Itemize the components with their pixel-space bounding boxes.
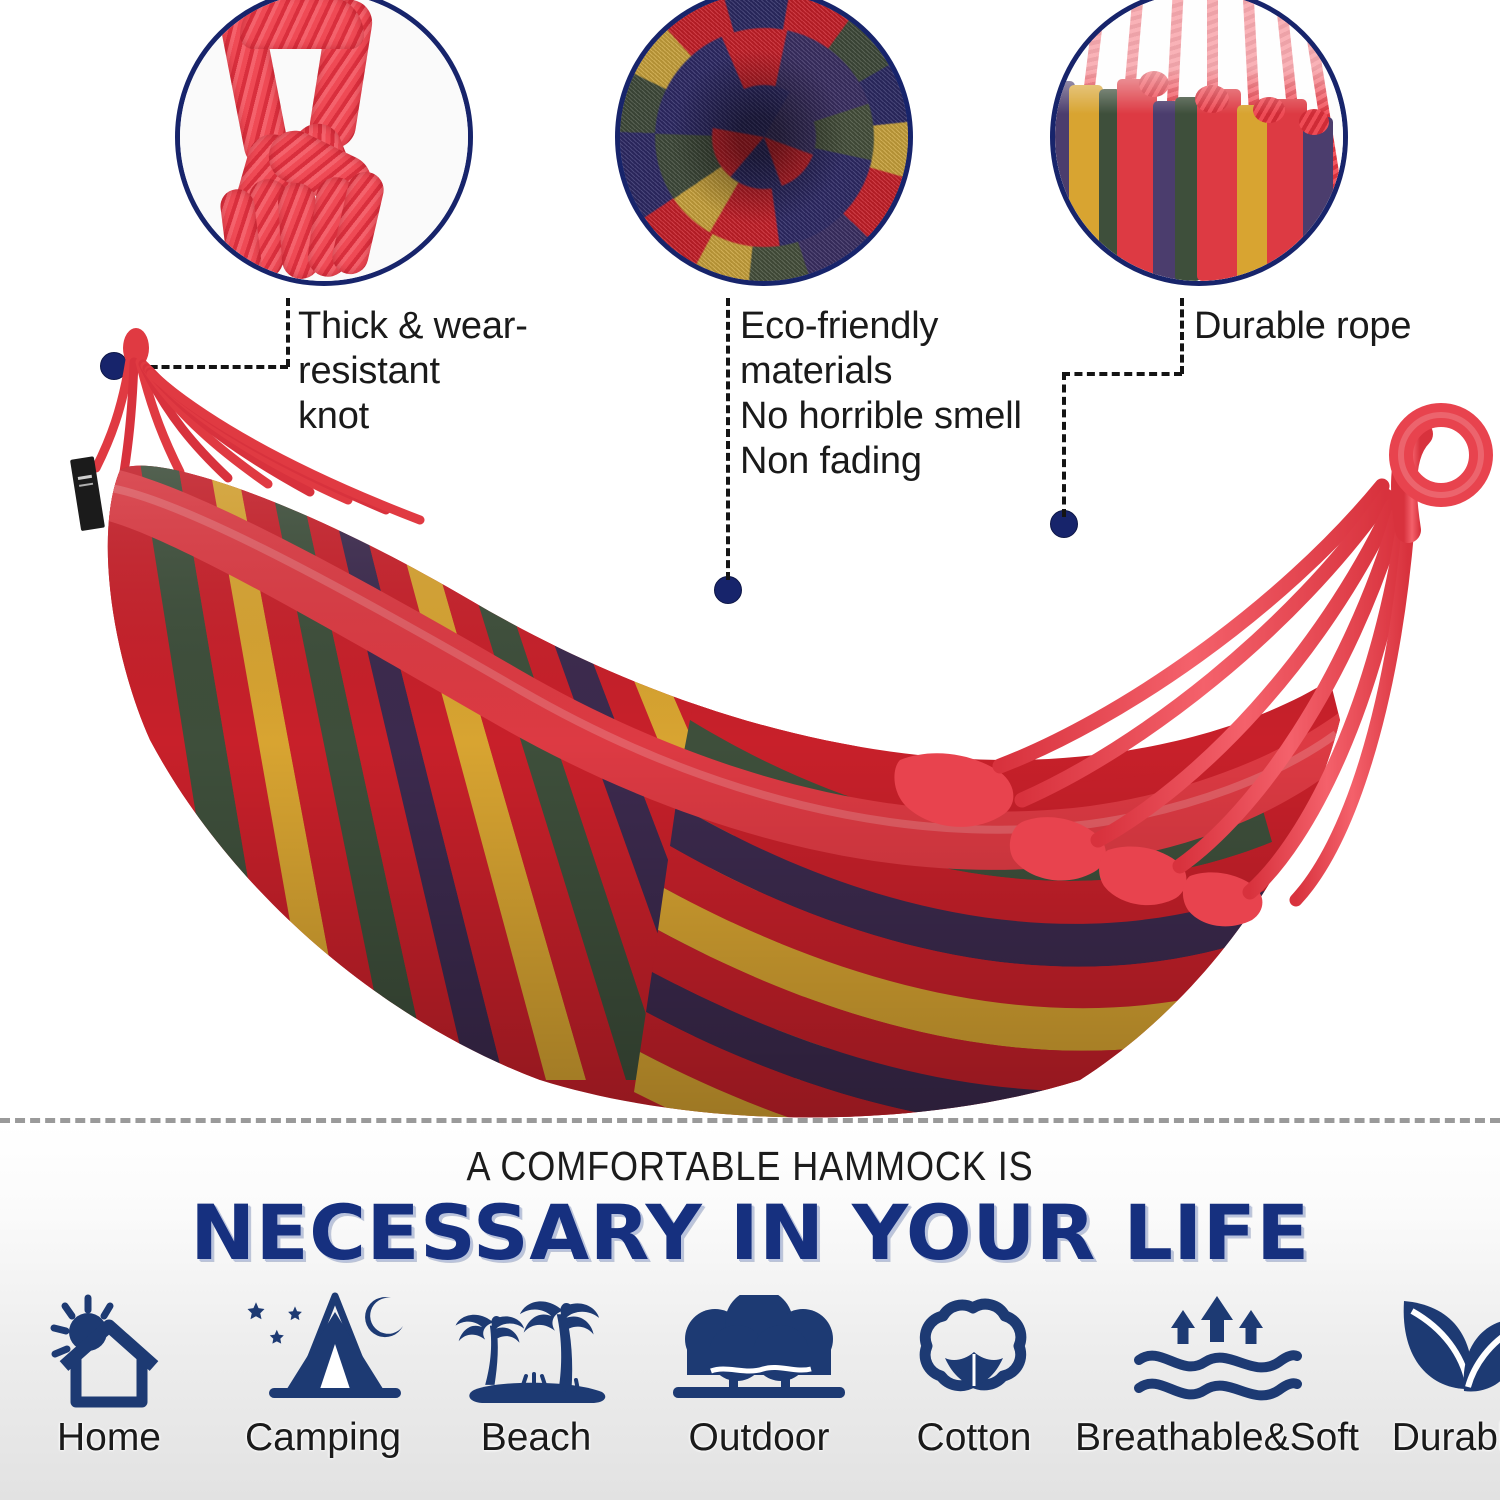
breathable-waves-arrows-icon bbox=[1129, 1290, 1305, 1410]
feature-label-cotton: Cotton bbox=[917, 1416, 1032, 1460]
leaves-icon bbox=[1390, 1290, 1500, 1410]
palm-island-icon bbox=[448, 1290, 624, 1410]
cotton-boll-icon bbox=[907, 1290, 1041, 1410]
feature-label-camping: Camping bbox=[245, 1416, 401, 1460]
product-infographic: Thick & wear-resistant knot Eco-friendly… bbox=[0, 0, 1500, 1500]
feature-item-durable: Durable bbox=[1360, 1290, 1500, 1460]
feature-icon-row: Home Camping bbox=[0, 1290, 1500, 1495]
feature-label-home: Home bbox=[57, 1416, 161, 1460]
product-image-hammock bbox=[0, 200, 1500, 1120]
feature-label-beach: Beach bbox=[481, 1416, 592, 1460]
trees-icon bbox=[671, 1290, 847, 1410]
feature-label-durable: Durable bbox=[1392, 1416, 1500, 1460]
feature-item-beach: Beach bbox=[428, 1290, 644, 1460]
feature-label-outdoor: Outdoor bbox=[689, 1416, 830, 1460]
home-sun-icon bbox=[46, 1290, 172, 1410]
banner-headline-big: NECESSARY IN YOUR LIFE bbox=[0, 1188, 1500, 1277]
feature-label-breathable: Breathable&Soft bbox=[1075, 1416, 1359, 1460]
feature-item-breathable: Breathable&Soft bbox=[1074, 1290, 1360, 1460]
feature-item-home: Home bbox=[0, 1290, 218, 1460]
feature-item-outdoor: Outdoor bbox=[644, 1290, 874, 1460]
feature-item-cotton: Cotton bbox=[874, 1290, 1074, 1460]
banner-headline-small: A COMFORTABLE HAMMOCK IS bbox=[90, 1143, 1410, 1190]
feature-item-camping: Camping bbox=[218, 1290, 428, 1460]
hammock-illustration bbox=[0, 200, 1500, 1120]
tent-stars-moon-icon bbox=[239, 1290, 407, 1410]
